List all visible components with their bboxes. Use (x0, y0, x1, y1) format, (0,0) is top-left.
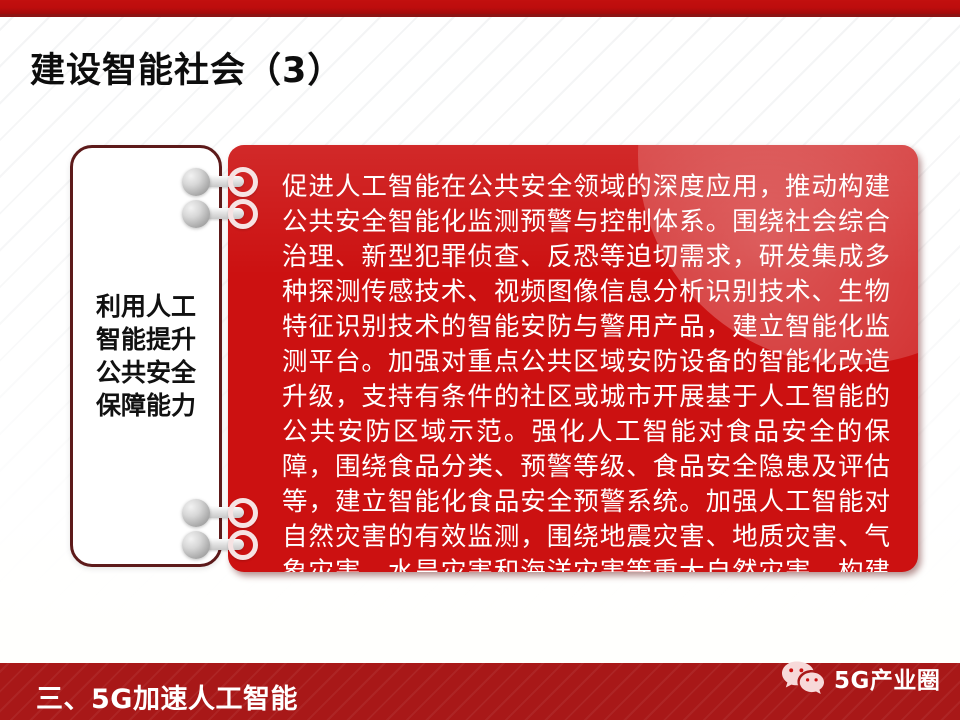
connector-ring-icon (228, 530, 258, 560)
connector-ball-icon (182, 168, 210, 196)
connector-bottom-2 (182, 529, 258, 559)
connector-ball-icon (182, 200, 210, 228)
content-panel: 促进人工智能在公共安全领域的深度应用，推动构建公共安全智能化监测预警与控制体系。… (228, 145, 918, 572)
brand-block: 5G产业圈 (780, 660, 940, 696)
footer-section-title: 三、5G加速人工智能 (36, 677, 298, 716)
connector-top-2 (182, 198, 258, 228)
connector-ring-icon (228, 167, 258, 197)
connector-ball-icon (182, 499, 210, 527)
topic-label-line-1: 利用人工 (73, 290, 219, 323)
wechat-icon (780, 660, 826, 696)
slide-canvas: 建设智能社会（3） 利用人工 智能提升 公共安全 保障能力 促进人工智能在公共安… (0, 0, 960, 720)
connector-ball-icon (182, 531, 210, 559)
brand-label: 5G产业圈 (834, 661, 940, 695)
connector-ring-icon (228, 498, 258, 528)
connector-bottom-1 (182, 497, 258, 527)
topic-label-line-3: 公共安全 (73, 356, 219, 389)
topic-label-line-4: 保障能力 (73, 389, 219, 422)
content-panel-body: 促进人工智能在公共安全领域的深度应用，推动构建公共安全智能化监测预警与控制体系。… (282, 170, 890, 572)
connector-ring-icon (228, 199, 258, 229)
topic-label-text: 利用人工 智能提升 公共安全 保障能力 (73, 290, 219, 422)
topic-label-line-2: 智能提升 (73, 323, 219, 356)
top-accent-rule (0, 14, 960, 17)
connector-top-1 (182, 166, 258, 196)
page-title: 建设智能社会（3） (30, 42, 343, 93)
top-accent-bar (0, 0, 960, 14)
